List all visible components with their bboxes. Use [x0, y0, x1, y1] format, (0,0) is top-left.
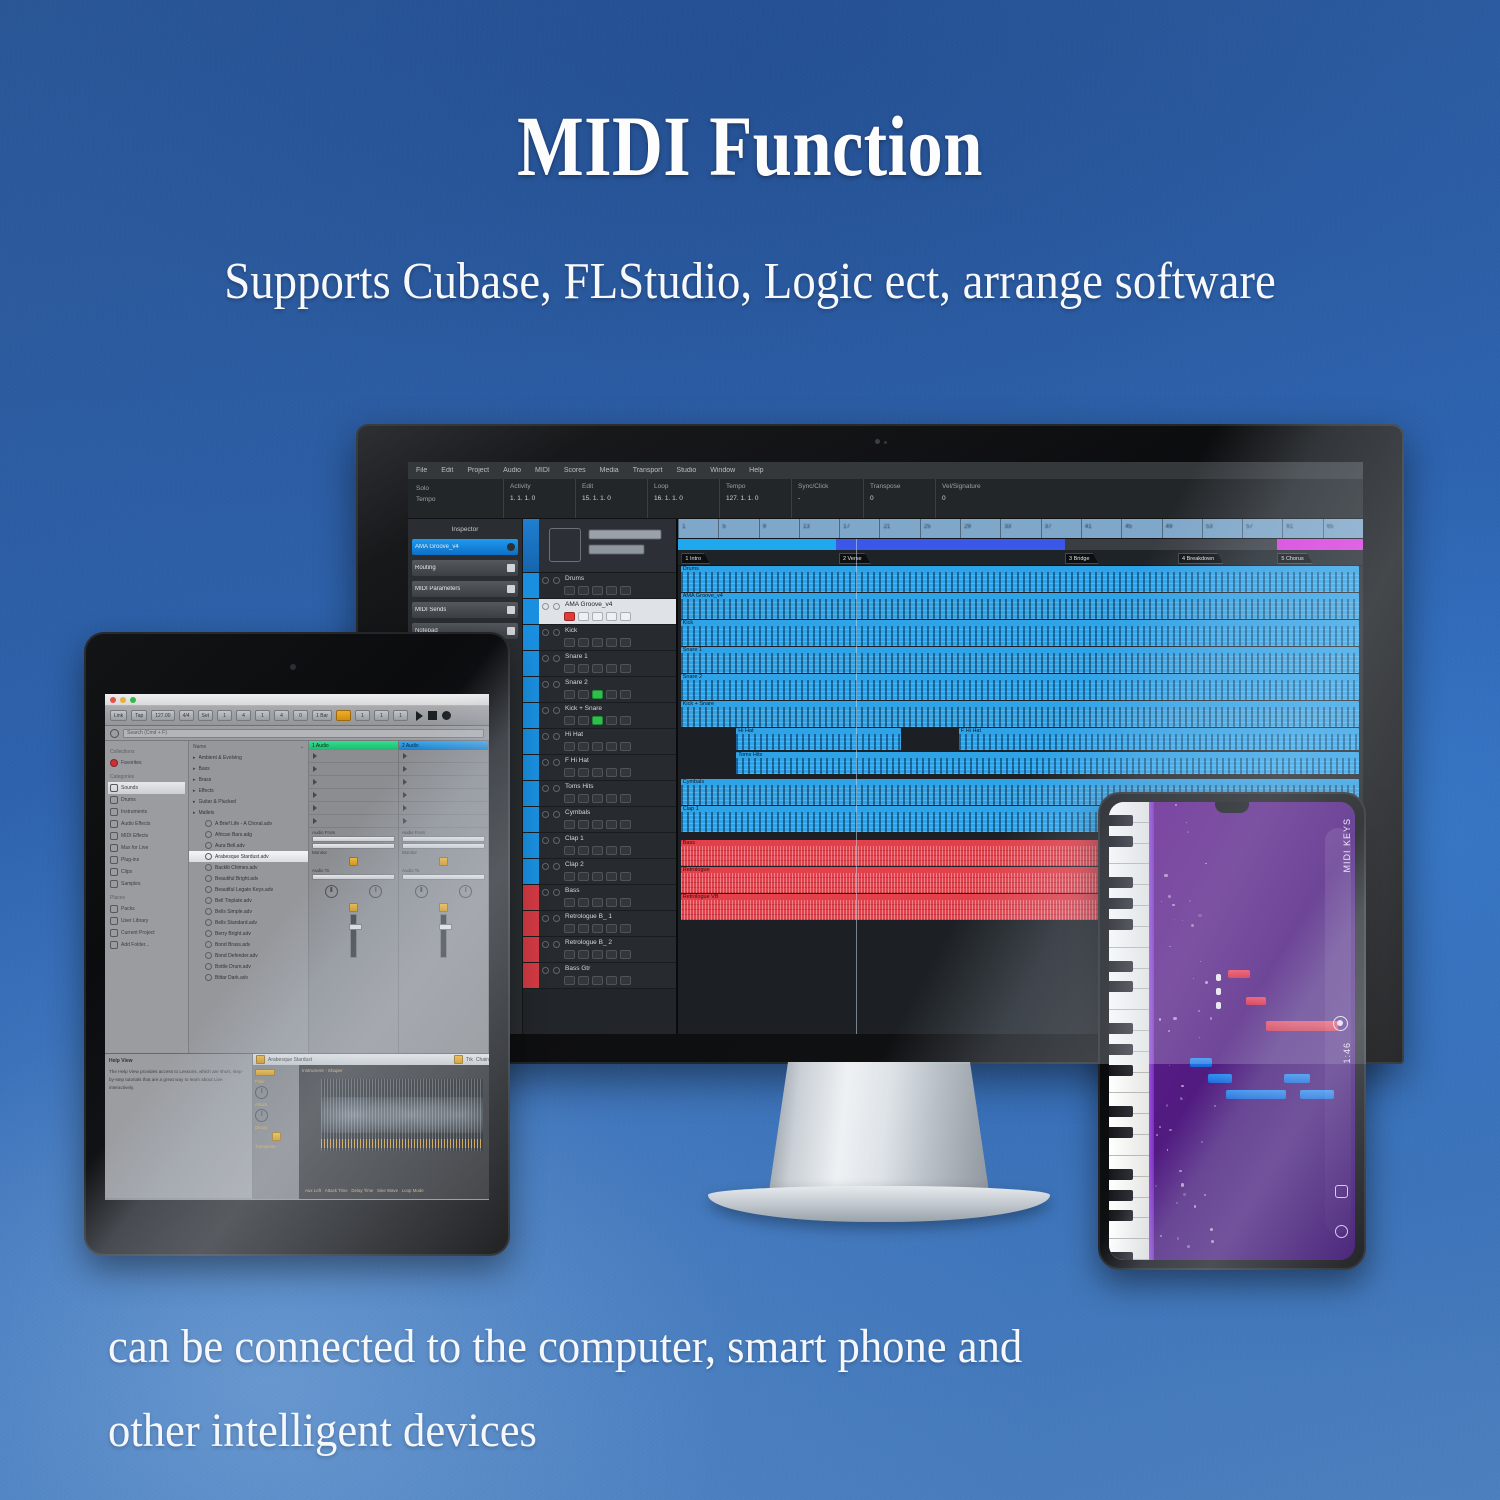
arrangement-clip[interactable]: Toms Hits [736, 752, 1359, 774]
transport-fields[interactable]: Activity1. 1. 1. 0Edit15. 1. 1. 0Loop16.… [503, 479, 1007, 518]
piano-black-key[interactable] [1109, 1210, 1133, 1221]
list-item[interactable]: ▸Brass [189, 774, 308, 785]
play-icon[interactable] [403, 792, 407, 798]
track-mute-button[interactable] [606, 742, 617, 751]
inspector-row-toggle[interactable] [507, 543, 515, 551]
attack-knob[interactable] [255, 1109, 268, 1122]
track-mute-icon[interactable] [542, 863, 549, 870]
device-macro-column[interactable]: Filter Attack Decay Transpose [253, 1065, 299, 1199]
track-lock-button[interactable] [620, 976, 631, 985]
track-lock-button[interactable] [620, 690, 631, 699]
window-titlebar[interactable] [105, 694, 489, 706]
record-arm-button[interactable] [336, 710, 351, 721]
piano-black-key[interactable] [1109, 836, 1133, 847]
track-row[interactable]: Bass [523, 885, 676, 911]
play-icon[interactable] [313, 779, 317, 785]
track-row[interactable]: Snare 2 [523, 677, 676, 703]
track-solo-button[interactable] [592, 586, 603, 595]
track-lock-button[interactable] [620, 742, 631, 751]
transport-field-value[interactable]: - [798, 495, 863, 502]
track-row[interactable]: Clap 1 [523, 833, 676, 859]
track-monitor-button[interactable] [578, 898, 589, 907]
toolbar-button[interactable]: Link [110, 710, 127, 721]
track-buttons[interactable] [564, 950, 631, 959]
session-view[interactable]: 1 Audio Audio From Monitor [309, 741, 489, 1053]
track-solo-button[interactable] [592, 638, 603, 647]
track-solo-icon[interactable] [553, 915, 560, 922]
inspector-rows[interactable]: AMA Groove_v4RoutingMIDI ParametersMIDI … [412, 539, 518, 639]
chevron-right-icon[interactable]: ▸ [193, 755, 196, 761]
piano-black-key[interactable] [1109, 919, 1133, 930]
minimize-icon[interactable] [120, 697, 126, 703]
list-item[interactable]: Bells Standard.adv [189, 917, 308, 928]
track-row[interactable]: Kick + Snare [523, 703, 676, 729]
chevron-right-icon[interactable]: ▸ [193, 766, 196, 772]
track-solo-button[interactable] [592, 872, 603, 881]
track-record-button[interactable] [564, 716, 575, 725]
toolbar-button[interactable]: 1 Bar [312, 710, 332, 721]
toolbar-button[interactable]: 1 [255, 710, 270, 721]
toolbar-button[interactable]: 4/4 [179, 710, 194, 721]
sidebar-item-audio-effects[interactable]: Audio Effects [108, 818, 185, 830]
track-row[interactable]: Snare 1 [523, 651, 676, 677]
places-item-current-project[interactable]: Current Project [108, 927, 185, 939]
record-icon[interactable] [1333, 1016, 1348, 1031]
track-solo-icon[interactable] [553, 863, 560, 870]
list-item[interactable]: Beautiful Bright.adv [189, 873, 308, 884]
track-solo-button[interactable] [592, 820, 603, 829]
play-icon[interactable] [403, 818, 407, 824]
piano-white-key[interactable] [1109, 989, 1149, 1010]
track-solo-button[interactable] [592, 664, 603, 673]
clip-slot[interactable] [399, 750, 488, 763]
audio-from-section[interactable]: Audio From Monitor Audio To [402, 830, 485, 880]
track-monitor-button[interactable] [578, 690, 589, 699]
toolbar-button[interactable]: 0 [293, 710, 308, 721]
track-solo-button[interactable] [592, 976, 603, 985]
audio-to-select[interactable] [402, 874, 485, 880]
track-row[interactable]: Bass Gtr [523, 963, 676, 989]
settings-icon[interactable] [1335, 1225, 1348, 1238]
stop-icon[interactable] [428, 711, 437, 720]
transport-field-value[interactable]: 0 [870, 495, 935, 502]
session-track-1[interactable]: 1 Audio Audio From Monitor [309, 741, 399, 1053]
track-buttons[interactable] [564, 898, 631, 907]
sample-display-panel[interactable]: Instrument - Shaper Aux Left Attack Time… [299, 1065, 489, 1199]
play-icon[interactable] [403, 766, 407, 772]
send-b-knob[interactable] [369, 885, 382, 898]
piano-white-key[interactable] [1109, 1218, 1149, 1239]
list-item[interactable]: Aura Bell.adv [189, 840, 308, 851]
browser-content-list[interactable]: Name ⌄ ▸Ambient & Evolving▸Bass▸Brass▸Ef… [189, 741, 309, 1053]
sidebar-item-clips[interactable]: Clips [108, 866, 185, 878]
track-buttons[interactable] [564, 612, 631, 621]
track-record-button[interactable] [564, 924, 575, 933]
track-rows[interactable]: DrumsAMA Groove_v4KickSnare 1Snare 2Kick… [523, 573, 676, 989]
clip-slot[interactable] [309, 789, 398, 802]
arrangement-clip[interactable]: AMA Groove_v4 [681, 593, 1359, 619]
track-buttons[interactable] [564, 638, 631, 647]
track-lock-button[interactable] [620, 872, 631, 881]
list-item[interactable]: Bottle Drum.adv [189, 961, 308, 972]
toolbar-button[interactable]: 4 [274, 710, 289, 721]
track-buttons[interactable] [564, 846, 631, 855]
toolbar-button[interactable]: Set [198, 710, 214, 721]
phone-screen[interactable]: MIDI KEYS 1:46 [1109, 802, 1355, 1260]
track-buttons[interactable] [564, 924, 631, 933]
transport-field[interactable]: Loop16. 1. 1. 0 [647, 479, 719, 518]
play-icon[interactable] [403, 753, 407, 759]
toolbar-button[interactable]: 127.00 [151, 710, 174, 721]
position-beat[interactable]: 1 [374, 710, 389, 721]
track-solo-icon[interactable] [553, 603, 560, 610]
timeline-ruler[interactable]: 1591317212529333741454953576165 [678, 519, 1363, 539]
grid-icon[interactable] [1335, 1185, 1348, 1198]
track-solo-icon[interactable] [553, 577, 560, 584]
send-a-knob[interactable] [325, 885, 338, 898]
toolbar-buttons[interactable]: LinkTap127.004/4Set141401 Bar [110, 710, 332, 721]
transport-field[interactable]: Transpose0 [863, 479, 935, 518]
track-row[interactable]: Retrologue B_ 1 [523, 911, 676, 937]
track-monitor-button[interactable] [578, 768, 589, 777]
list-item[interactable]: Bond Defender.adv [189, 950, 308, 961]
track-monitor-button[interactable] [578, 924, 589, 933]
piano-black-key[interactable] [1109, 1169, 1133, 1180]
menu-item[interactable]: Window [710, 467, 735, 474]
macro-button[interactable] [255, 1069, 275, 1076]
track-mute-icon[interactable] [542, 941, 549, 948]
list-item[interactable]: Backlit Chimes.adv [189, 862, 308, 873]
piano-white-key[interactable] [1109, 927, 1149, 948]
track-mute-icon[interactable] [542, 811, 549, 818]
track-monitor-button[interactable] [578, 612, 589, 621]
track-record-button[interactable] [564, 664, 575, 673]
track-activator-button[interactable] [349, 903, 358, 912]
piano-white-key[interactable] [1109, 1135, 1149, 1156]
clip-slot[interactable] [399, 815, 488, 828]
track-activator-button[interactable] [439, 903, 448, 912]
menu-item[interactable]: Scores [564, 467, 586, 474]
list-item[interactable]: ▸Guitar & Plucked [189, 796, 308, 807]
clip-slot[interactable] [309, 750, 398, 763]
menu-item[interactable]: MIDI [535, 467, 550, 474]
browser-items[interactable]: ▸Ambient & Evolving▸Bass▸Brass▸Effects▸G… [189, 752, 308, 983]
track-lock-button[interactable] [620, 846, 631, 855]
track-row[interactable]: AMA Groove_v4 [523, 599, 676, 625]
volume-fader[interactable] [440, 914, 447, 958]
track-mute-icon[interactable] [542, 915, 549, 922]
track-mute-button[interactable] [606, 794, 617, 803]
list-item[interactable]: Arabesque Stardust.adv [189, 851, 308, 862]
category-list[interactable]: SoundsDrumsInstrumentsAudio EffectsMIDI … [108, 782, 185, 890]
inspector-row-toggle[interactable] [507, 606, 515, 614]
track-mute-icon[interactable] [542, 733, 549, 740]
track-solo-icon[interactable] [553, 941, 560, 948]
track-mute-icon[interactable] [542, 967, 549, 974]
arrangement-clip[interactable]: F Hi Hat [959, 728, 1359, 750]
sidebar-item-sounds[interactable]: Sounds [108, 782, 185, 794]
track-monitor-button[interactable] [578, 586, 589, 595]
menu-item[interactable]: Media [600, 467, 619, 474]
menu-item[interactable]: Audio [503, 467, 521, 474]
transport-field-value[interactable]: 0 [942, 495, 1007, 502]
track-lock-button[interactable] [620, 794, 631, 803]
piano-white-key[interactable] [1109, 844, 1149, 865]
track-solo-button[interactable] [592, 768, 603, 777]
arrangement-marker[interactable]: 1 Intro [681, 553, 710, 564]
places-item-packs[interactable]: Packs [108, 903, 185, 915]
daw-menubar[interactable]: FileEditProjectAudioMIDIScoresMediaTrans… [408, 462, 1363, 479]
list-item[interactable]: Bell Tinplate.adv [189, 895, 308, 906]
device-tabs[interactable]: Arabesque Stardust Trk Chain [253, 1054, 489, 1065]
sidebar-item-drums[interactable]: Drums [108, 794, 185, 806]
track-buttons[interactable] [564, 742, 631, 751]
track-mute-icon[interactable] [542, 785, 549, 792]
piano-keyboard[interactable] [1109, 802, 1149, 1260]
piano-black-key[interactable] [1109, 1065, 1133, 1076]
piano-black-key[interactable] [1109, 898, 1133, 909]
track-row[interactable]: Drums [523, 573, 676, 599]
live-toolbar[interactable]: LinkTap127.004/4Set141401 Bar 1 1 1 [105, 706, 489, 726]
track-solo-button[interactable] [592, 846, 603, 855]
menu-item[interactable]: Studio [676, 467, 696, 474]
transport-controls[interactable] [416, 711, 451, 721]
track-buttons[interactable] [564, 716, 631, 725]
track-lock-button[interactable] [620, 924, 631, 933]
transport-field[interactable]: Edit15. 1. 1. 0 [575, 479, 647, 518]
track-monitor-button[interactable] [578, 872, 589, 881]
track-mute-button[interactable] [606, 950, 617, 959]
track-monitor-button[interactable] [578, 638, 589, 647]
inspector-row-toggle[interactable] [507, 585, 515, 593]
arrangement-clip[interactable]: Snare 1 [681, 647, 1359, 673]
clip-slot[interactable] [399, 776, 488, 789]
midi-note[interactable] [1226, 1090, 1286, 1099]
menu-item[interactable]: Transport [633, 467, 663, 474]
arrangement-marker[interactable]: 2 Verse [839, 553, 871, 564]
track-buttons[interactable] [564, 820, 631, 829]
device-activator-icon-2[interactable] [454, 1055, 463, 1064]
track-title[interactable]: 1 Audio [309, 741, 398, 750]
track-mute-icon[interactable] [542, 837, 549, 844]
track-buttons[interactable] [564, 872, 631, 881]
track-buttons[interactable] [564, 664, 631, 673]
track-solo-button[interactable] [592, 898, 603, 907]
play-icon[interactable] [313, 792, 317, 798]
midi-note[interactable] [1216, 988, 1221, 995]
track-solo-icon[interactable] [553, 837, 560, 844]
track-mute-button[interactable] [606, 846, 617, 855]
timeline-overview[interactable] [678, 539, 1363, 550]
filter-knob[interactable] [255, 1086, 268, 1099]
arrangement-clip[interactable]: Drums [681, 566, 1359, 592]
track-buttons[interactable] [564, 586, 631, 595]
transport-field-value[interactable]: 1. 1. 1. 0 [510, 495, 575, 502]
track-mute-button[interactable] [606, 924, 617, 933]
close-icon[interactable] [110, 697, 116, 703]
track-record-button[interactable] [564, 768, 575, 777]
device-tab-track[interactable]: Trk [466, 1057, 473, 1063]
track-mute-button[interactable] [606, 898, 617, 907]
track-solo-icon[interactable] [553, 811, 560, 818]
track-row[interactable]: F Hi Hat [523, 755, 676, 781]
track-monitor-button[interactable] [578, 950, 589, 959]
arrangement-marker[interactable]: 5 Chorus [1277, 553, 1312, 564]
piano-black-key[interactable] [1109, 1023, 1133, 1034]
track-mute-button[interactable] [606, 690, 617, 699]
track-buttons[interactable] [564, 976, 631, 985]
track-lock-button[interactable] [620, 586, 631, 595]
list-item[interactable]: ▸Effects [189, 785, 308, 796]
piano-black-key[interactable] [1109, 1044, 1133, 1055]
clip-slot[interactable] [309, 815, 398, 828]
track-solo-icon[interactable] [553, 967, 560, 974]
track-lock-button[interactable] [620, 820, 631, 829]
arrangement-marker[interactable]: 3 Bridge [1065, 553, 1099, 564]
transport-field-value[interactable]: 127. 1. 1. 0 [726, 495, 791, 502]
midi-note[interactable] [1190, 1058, 1212, 1067]
play-icon[interactable] [313, 805, 317, 811]
transport-field[interactable]: Sync/Click- [791, 479, 863, 518]
track-mute-icon[interactable] [542, 681, 549, 688]
arrangement-marker[interactable]: 4 Breakdown [1178, 553, 1223, 564]
track-mute-icon[interactable] [542, 655, 549, 662]
transport-field[interactable]: Tempo127. 1. 1. 0 [719, 479, 791, 518]
menu-item[interactable]: File [416, 467, 427, 474]
transport-field-value[interactable]: 15. 1. 1. 0 [582, 495, 647, 502]
session-track-2[interactable]: 2 Audio Audio From Monitor [399, 741, 489, 1053]
track-solo-button[interactable] [592, 612, 603, 621]
inspector-row-toggle[interactable] [507, 564, 515, 572]
track-mute-icon[interactable] [542, 603, 549, 610]
menu-item[interactable]: Project [467, 467, 489, 474]
toolbar-button[interactable]: Tap [131, 710, 147, 721]
track-lock-button[interactable] [620, 950, 631, 959]
list-item[interactable]: Bells Simple.adv [189, 906, 308, 917]
track-mute-icon[interactable] [542, 629, 549, 636]
track-record-button[interactable] [564, 612, 575, 621]
list-item[interactable]: Berry Bright.adv [189, 928, 308, 939]
daw-transport-bar[interactable]: Solo Tempo Activity1. 1. 1. 0Edit15. 1. … [408, 479, 1363, 519]
search-input[interactable]: Search (Cmd + F) [123, 729, 484, 738]
track-row[interactable]: Cymbals [523, 807, 676, 833]
places-item-user-library[interactable]: User Library [108, 915, 185, 927]
send-b-knob[interactable] [459, 885, 472, 898]
track-mute-button[interactable] [606, 638, 617, 647]
play-icon[interactable] [313, 766, 317, 772]
track-mute-button[interactable] [606, 716, 617, 725]
piano-black-key[interactable] [1109, 1252, 1133, 1260]
sidebar-item-plug-ins[interactable]: Plug-ins [108, 854, 185, 866]
track-solo-icon[interactable] [553, 681, 560, 688]
arrangement-clip[interactable]: Kick [681, 620, 1359, 646]
track-solo-icon[interactable] [553, 785, 560, 792]
track-solo-icon[interactable] [553, 629, 560, 636]
piano-black-key[interactable] [1109, 1190, 1133, 1201]
browser-sidebar[interactable]: Collections Favorites Categories SoundsD… [105, 741, 189, 1053]
list-item[interactable]: Bond Brass.adv [189, 939, 308, 950]
track-solo-button[interactable] [592, 950, 603, 959]
arrangement-clip[interactable]: Snare 2 [681, 674, 1359, 700]
list-item[interactable]: ▸Ambient & Evolving [189, 752, 308, 763]
audio-to-select[interactable] [312, 874, 395, 880]
list-item[interactable]: African Bars.adg [189, 829, 308, 840]
piano-black-key[interactable] [1109, 1106, 1133, 1117]
track-solo-button[interactable] [592, 716, 603, 725]
track-lock-button[interactable] [620, 638, 631, 647]
track-record-button[interactable] [564, 586, 575, 595]
inspector-row[interactable]: Routing [412, 560, 518, 576]
track-record-button[interactable] [564, 742, 575, 751]
position-sixteenth[interactable]: 1 [393, 710, 408, 721]
monitor-in-button[interactable] [439, 857, 448, 866]
track-record-button[interactable] [564, 846, 575, 855]
transport-field[interactable]: Vel/Signature0 [935, 479, 1007, 518]
track-lock-button[interactable] [620, 612, 631, 621]
track-row[interactable]: Retrologue B_ 2 [523, 937, 676, 963]
monitor-in-button[interactable] [349, 857, 358, 866]
chevron-right-icon[interactable]: ▸ [193, 810, 196, 816]
track-solo-icon[interactable] [553, 655, 560, 662]
position-bar[interactable]: 1 [355, 710, 370, 721]
playhead[interactable] [856, 539, 857, 1034]
track-solo-icon[interactable] [553, 759, 560, 766]
midi-note[interactable] [1216, 1002, 1221, 1009]
track-mute-button[interactable] [606, 820, 617, 829]
track-record-button[interactable] [564, 950, 575, 959]
midi-note[interactable] [1228, 970, 1250, 978]
inspector-row[interactable]: MIDI Sends [412, 602, 518, 618]
list-item[interactable]: A Brief Life - A Choral.adv [189, 818, 308, 829]
send-knobs[interactable] [399, 882, 488, 901]
list-item[interactable]: ▸Bass [189, 763, 308, 774]
track-lock-button[interactable] [620, 898, 631, 907]
track-solo-button[interactable] [592, 794, 603, 803]
sidebar-item-favorites[interactable]: Favorites [108, 757, 185, 769]
clip-slot[interactable] [309, 802, 398, 815]
track-lock-button[interactable] [620, 768, 631, 777]
track-buttons[interactable] [564, 690, 631, 699]
arrangement-clip[interactable]: Hi Hat [736, 728, 900, 750]
send-a-knob[interactable] [415, 885, 428, 898]
audio-from-channel-select[interactable] [402, 843, 485, 849]
track-mute-icon[interactable] [542, 707, 549, 714]
track-record-button[interactable] [564, 690, 575, 699]
track-monitor-button[interactable] [578, 716, 589, 725]
device-chain-panel[interactable]: Arabesque Stardust Trk Chain Filter Atta… [253, 1054, 489, 1198]
volume-fader[interactable] [350, 914, 357, 958]
clip-slot[interactable] [399, 763, 488, 776]
clip-slot[interactable] [309, 776, 398, 789]
chevron-right-icon[interactable]: ▸ [193, 788, 196, 794]
transport-field-value[interactable]: 16. 1. 1. 0 [654, 495, 719, 502]
piano-black-key[interactable] [1109, 815, 1133, 826]
sidebar-item-samples[interactable]: Samples [108, 878, 185, 890]
device-tab-label[interactable]: Arabesque Stardust [268, 1057, 312, 1063]
track-buttons[interactable] [564, 768, 631, 777]
track-solo-icon[interactable] [553, 707, 560, 714]
track-mute-button[interactable] [606, 768, 617, 777]
sidebar-item-max-for-live[interactable]: Max for Live [108, 842, 185, 854]
clip-slot[interactable] [309, 763, 398, 776]
record-icon[interactable] [442, 711, 451, 720]
piano-black-key[interactable] [1109, 981, 1133, 992]
track-record-button[interactable] [564, 872, 575, 881]
midi-note[interactable] [1284, 1074, 1310, 1083]
list-item[interactable]: ▸Mallets [189, 807, 308, 818]
audio-from-select[interactable] [312, 836, 395, 842]
track-monitor-button[interactable] [578, 846, 589, 855]
